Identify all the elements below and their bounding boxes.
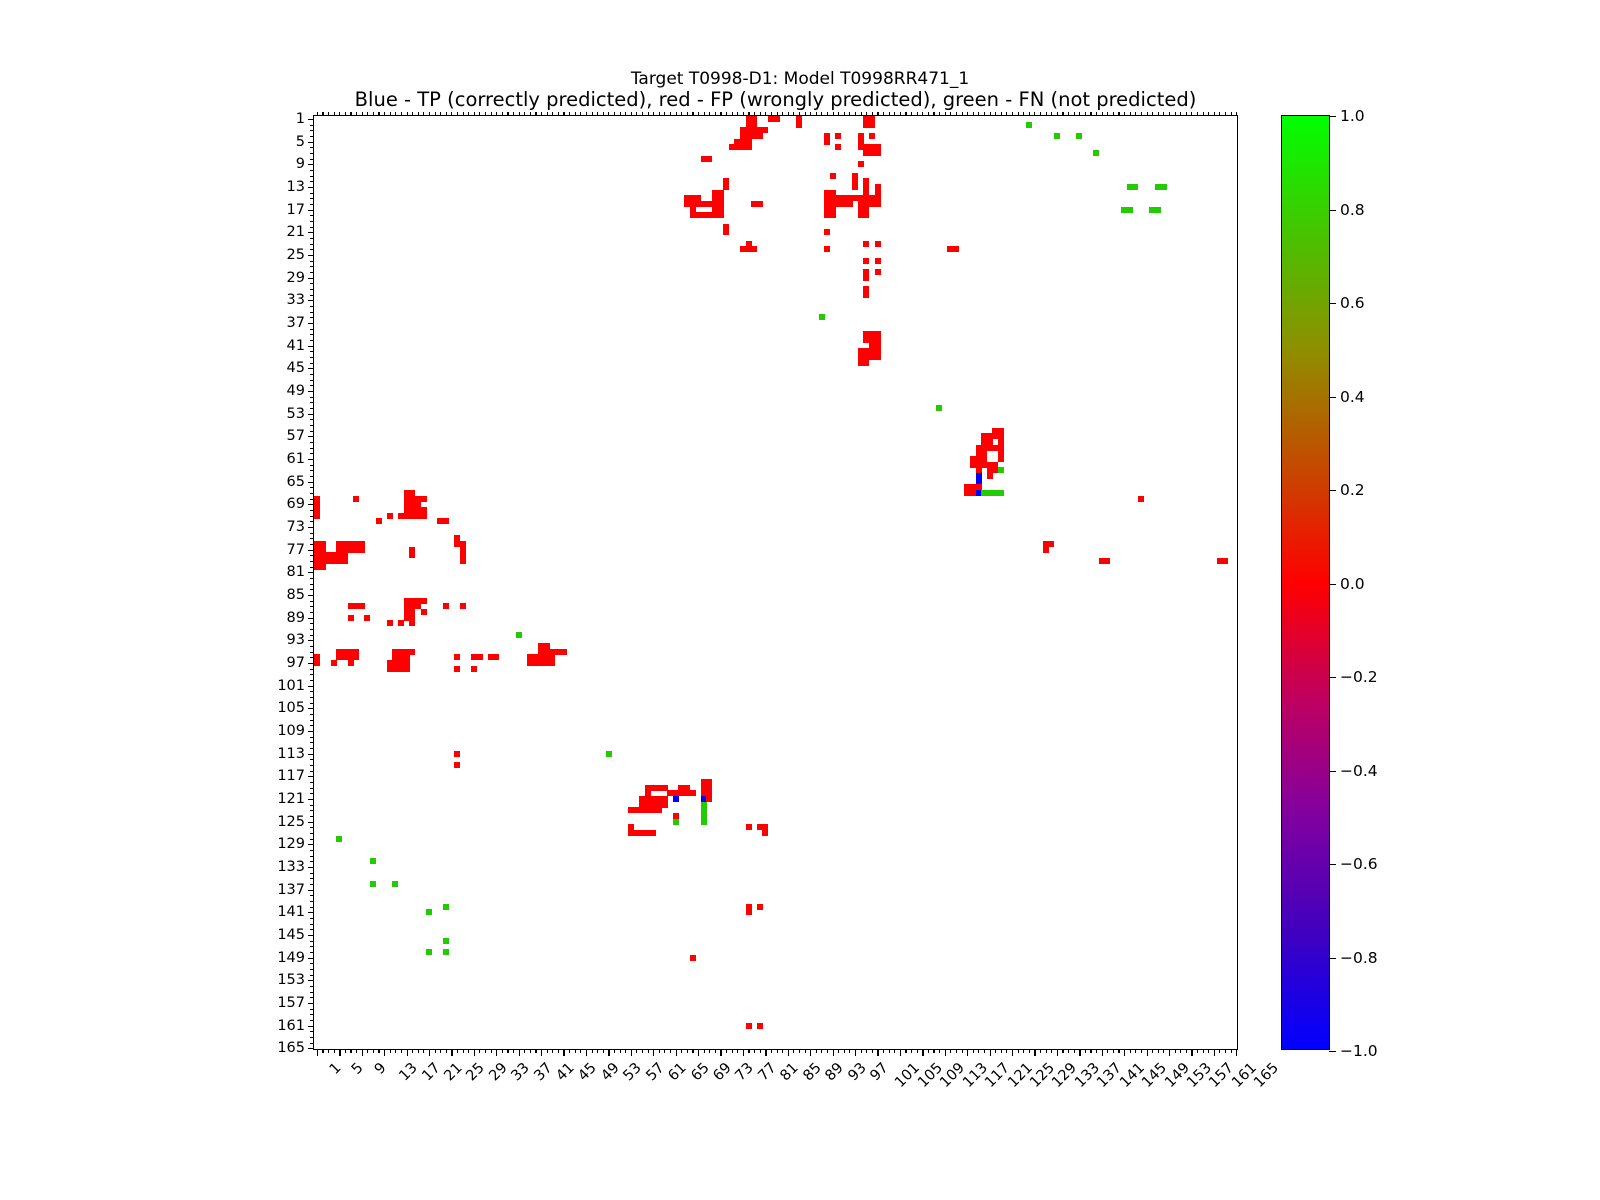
x-axis-tick-label: 41	[553, 1060, 577, 1084]
colorbar-tick	[1329, 771, 1336, 772]
colorbar-tick	[1329, 584, 1336, 585]
y-tick-minor	[310, 221, 314, 222]
x-tick-minor	[1208, 1049, 1209, 1053]
contact-cell	[976, 473, 982, 485]
x-tick-minor	[692, 1049, 693, 1053]
y-tick-minor	[310, 374, 314, 375]
contact-cell	[667, 790, 695, 796]
contact-cell	[981, 490, 1004, 496]
x-tick-minor	[440, 1049, 441, 1053]
x-tick-top	[418, 112, 419, 116]
y-tick-minor	[310, 125, 314, 126]
y-tick-minor	[310, 153, 314, 154]
x-tick-top	[463, 112, 464, 116]
contact-cell	[364, 615, 370, 621]
x-tick-top	[407, 112, 408, 116]
y-tick-major	[308, 958, 315, 959]
y-tick-major	[308, 119, 315, 120]
contact-cell	[1054, 133, 1060, 139]
y-tick-minor	[310, 470, 314, 471]
y-tick-minor	[310, 878, 314, 879]
contact-cell	[454, 666, 460, 672]
y-tick-minor	[310, 329, 314, 330]
contact-cell	[673, 819, 679, 825]
contact-cell	[336, 836, 342, 842]
y-tick-minor	[310, 159, 314, 160]
x-axis-tick-label: 13	[396, 1060, 420, 1084]
contact-cell	[348, 660, 354, 666]
x-tick-top	[905, 112, 906, 116]
y-axis-tick-label: 33	[287, 292, 305, 308]
y-tick-major	[308, 527, 315, 528]
x-tick-top	[328, 112, 329, 116]
colorbar-tick	[1329, 1051, 1336, 1052]
x-tick-top	[765, 112, 766, 116]
contact-cell	[768, 116, 780, 122]
x-tick-top	[990, 112, 991, 116]
y-tick-minor	[310, 510, 314, 511]
y-tick-minor	[310, 680, 314, 681]
contact-cell	[336, 541, 364, 553]
x-tick-top	[485, 112, 486, 116]
x-tick-minor	[457, 1049, 458, 1053]
x-axis-tick-label: 89	[823, 1060, 847, 1084]
y-tick-minor	[310, 215, 314, 216]
x-tick-top	[479, 112, 480, 116]
contact-cell	[998, 467, 1004, 473]
y-tick-minor	[310, 606, 314, 607]
y-tick-major	[308, 142, 315, 143]
contact-cell	[549, 649, 566, 655]
x-tick-top	[1012, 112, 1013, 116]
y-tick-major	[308, 822, 315, 823]
x-tick-top	[580, 112, 581, 116]
x-tick-minor	[799, 1049, 800, 1053]
contact-cell	[370, 881, 376, 887]
y-tick-major	[308, 504, 315, 505]
contact-cell	[392, 649, 409, 661]
x-tick-minor	[905, 1049, 906, 1053]
x-tick-top	[648, 112, 649, 116]
y-tick-minor	[310, 669, 314, 670]
y-axis-tick-label: 61	[287, 451, 305, 467]
x-tick-top	[524, 112, 525, 116]
x-tick-top	[782, 112, 783, 116]
x-tick-top	[339, 112, 340, 116]
x-tick-minor	[597, 1049, 598, 1053]
x-tick-minor	[861, 1049, 862, 1053]
y-tick-minor	[310, 578, 314, 579]
y-tick-minor	[310, 238, 314, 239]
contact-cell	[869, 133, 875, 139]
y-tick-minor	[310, 402, 314, 403]
x-tick-top	[1169, 112, 1170, 116]
y-tick-minor	[310, 941, 314, 942]
x-tick-top	[457, 112, 458, 116]
colorbar-tick	[1329, 397, 1336, 398]
x-tick-minor	[552, 1049, 553, 1053]
x-tick-top	[709, 112, 710, 116]
y-tick-minor	[310, 873, 314, 874]
x-tick-top	[810, 112, 811, 116]
contact-cell	[690, 955, 696, 961]
y-axis-tick-label: 85	[287, 587, 305, 603]
x-tick-major	[810, 1049, 811, 1056]
y-tick-minor	[310, 793, 314, 794]
contact-cell	[987, 445, 999, 451]
contact-cell	[628, 830, 634, 836]
x-tick-minor	[1180, 1049, 1181, 1053]
colorbar[interactable]: 1.00.80.60.40.20.0−0.2−0.4−0.6−0.8−1.0	[1281, 115, 1330, 1050]
y-tick-minor	[310, 493, 314, 494]
contact-cell	[314, 564, 326, 570]
x-tick-top	[1040, 112, 1041, 116]
contact-cell	[706, 796, 712, 802]
contact-cell	[835, 133, 841, 139]
y-tick-minor	[310, 561, 314, 562]
contact-cell	[314, 496, 320, 508]
y-axis-tick-label: 49	[287, 383, 305, 399]
colorbar-tick-label: 0.6	[1340, 294, 1365, 312]
contact-cell	[404, 609, 416, 621]
x-tick-top	[681, 112, 682, 116]
x-tick-minor	[345, 1049, 346, 1053]
x-tick-top	[496, 112, 497, 116]
contact-cell	[746, 116, 758, 128]
y-tick-minor	[310, 601, 314, 602]
x-tick-minor	[378, 1049, 379, 1053]
contact-cell	[415, 598, 427, 604]
x-tick-minor	[687, 1049, 688, 1053]
x-axis-tick-label: 85	[800, 1060, 824, 1084]
contact-cell	[875, 269, 881, 275]
y-tick-major	[308, 278, 315, 279]
x-axis-tick-label: 61	[666, 1060, 690, 1084]
x-axis-tick-label: 93	[845, 1060, 869, 1084]
x-tick-major	[474, 1049, 475, 1056]
y-tick-minor	[310, 975, 314, 976]
contact-cell	[1043, 547, 1049, 553]
x-tick-top	[659, 112, 660, 116]
x-tick-top	[625, 112, 626, 116]
contact-cell	[858, 360, 870, 366]
contact-cell	[443, 603, 449, 609]
contact-cell	[863, 241, 869, 247]
x-tick-minor	[1186, 1049, 1187, 1053]
y-tick-minor	[310, 312, 314, 313]
x-tick-minor	[748, 1049, 749, 1053]
x-tick-minor	[446, 1049, 447, 1053]
y-axis-tick-label: 9	[296, 156, 305, 172]
x-tick-top	[412, 112, 413, 116]
y-axis-tick-label: 81	[287, 564, 305, 580]
x-tick-top	[636, 112, 637, 116]
x-tick-top	[692, 112, 693, 116]
contact-cell	[723, 178, 729, 190]
x-tick-top	[1102, 112, 1103, 116]
y-tick-minor	[310, 533, 314, 534]
x-tick-top	[575, 112, 576, 116]
x-tick-minor	[412, 1049, 413, 1053]
x-axis-tick-label: 97	[867, 1060, 891, 1084]
y-tick-major	[308, 232, 315, 233]
x-tick-minor	[664, 1049, 665, 1053]
x-tick-minor	[1130, 1049, 1131, 1053]
y-tick-major	[308, 164, 315, 165]
x-tick-top	[911, 112, 912, 116]
x-tick-top	[922, 112, 923, 116]
x-tick-major	[407, 1049, 408, 1056]
y-tick-major	[308, 754, 315, 755]
y-axis-tick-label: 153	[277, 972, 305, 988]
colorbar-tick-label: −0.6	[1340, 855, 1378, 873]
contact-cell	[314, 654, 320, 666]
y-axis-tick-label: 45	[287, 360, 305, 376]
x-tick-top	[771, 112, 772, 116]
contact-cell	[863, 258, 869, 264]
y-tick-minor	[310, 810, 314, 811]
contact-cell	[701, 802, 707, 825]
y-tick-minor	[310, 895, 314, 896]
x-tick-minor	[1219, 1049, 1220, 1053]
y-axis-tick-label: 149	[277, 950, 305, 966]
y-axis-tick-label: 37	[287, 315, 305, 331]
y-tick-minor	[310, 623, 314, 624]
y-tick-minor	[310, 805, 314, 806]
x-tick-minor	[390, 1049, 391, 1053]
y-axis-tick-label: 161	[277, 1018, 305, 1034]
y-tick-minor	[310, 181, 314, 182]
x-tick-top	[552, 112, 553, 116]
x-tick-top	[1152, 112, 1153, 116]
x-tick-minor	[659, 1049, 660, 1053]
y-tick-minor	[310, 697, 314, 698]
y-tick-minor	[310, 691, 314, 692]
x-tick-minor	[1175, 1049, 1176, 1053]
x-tick-top	[933, 112, 934, 116]
y-tick-minor	[310, 317, 314, 318]
x-tick-minor	[1023, 1049, 1024, 1053]
x-tick-top	[973, 112, 974, 116]
x-tick-top	[1113, 112, 1114, 116]
x-tick-minor	[709, 1049, 710, 1053]
x-tick-minor	[973, 1049, 974, 1053]
x-axis-tick-label: 33	[509, 1060, 533, 1084]
x-tick-top	[373, 112, 374, 116]
x-tick-major	[922, 1049, 923, 1056]
x-tick-top	[1074, 112, 1075, 116]
x-axis-tick-label: 25	[464, 1060, 488, 1084]
x-tick-minor	[984, 1049, 985, 1053]
y-tick-minor	[310, 130, 314, 131]
y-tick-minor	[310, 465, 314, 466]
x-tick-top	[563, 112, 564, 116]
x-tick-top	[1023, 112, 1024, 116]
x-tick-major	[384, 1049, 385, 1056]
x-tick-top	[1068, 112, 1069, 116]
y-tick-major	[308, 550, 315, 551]
x-tick-top	[676, 112, 677, 116]
y-tick-minor	[310, 1009, 314, 1010]
y-axis-tick-label: 165	[277, 1040, 305, 1056]
x-tick-minor	[463, 1049, 464, 1053]
x-tick-top	[1051, 112, 1052, 116]
x-tick-top	[631, 112, 632, 116]
x-tick-minor	[715, 1049, 716, 1053]
x-tick-major	[362, 1049, 363, 1056]
contact-cell	[387, 513, 393, 519]
y-tick-minor	[310, 385, 314, 386]
x-tick-top	[883, 112, 884, 116]
x-tick-top	[1057, 112, 1058, 116]
y-tick-major	[308, 618, 315, 619]
y-tick-minor	[310, 147, 314, 148]
x-tick-minor	[1158, 1049, 1159, 1053]
x-tick-minor	[1006, 1049, 1007, 1053]
x-tick-top	[541, 112, 542, 116]
y-tick-major	[308, 595, 315, 596]
x-tick-minor	[356, 1049, 357, 1053]
x-tick-top	[423, 112, 424, 116]
x-tick-top	[401, 112, 402, 116]
x-tick-top	[799, 112, 800, 116]
x-tick-minor	[1001, 1049, 1002, 1053]
x-tick-major	[788, 1049, 789, 1056]
x-tick-minor	[648, 1049, 649, 1053]
y-tick-minor	[310, 737, 314, 738]
colorbar-tick-label: −1.0	[1340, 1042, 1378, 1060]
x-tick-top	[1006, 112, 1007, 116]
contact-cell	[835, 195, 852, 207]
figure-canvas: Target T0998-D1: Model T0998RR471_1 Corr…	[0, 0, 1600, 1200]
x-tick-top	[592, 112, 593, 116]
y-tick-major	[308, 912, 315, 913]
x-tick-top	[816, 112, 817, 116]
y-tick-major	[308, 187, 315, 188]
x-tick-top	[491, 112, 492, 116]
y-tick-minor	[310, 1014, 314, 1015]
y-tick-minor	[310, 952, 314, 953]
contact-cell	[1099, 558, 1111, 564]
contact-cell	[701, 156, 713, 162]
contact-cell	[936, 405, 942, 411]
y-tick-minor	[310, 1031, 314, 1032]
y-tick-major	[308, 776, 315, 777]
y-tick-major	[308, 459, 315, 460]
x-tick-minor	[401, 1049, 402, 1053]
x-tick-top	[597, 112, 598, 116]
x-tick-minor	[435, 1049, 436, 1053]
x-tick-top	[535, 112, 536, 116]
y-tick-major	[308, 890, 315, 891]
x-tick-minor	[423, 1049, 424, 1053]
contact-cell	[488, 654, 500, 660]
x-tick-top	[704, 112, 705, 116]
x-tick-minor	[962, 1049, 963, 1053]
contact-cell	[992, 428, 1004, 440]
y-tick-minor	[310, 997, 314, 998]
contact-cell	[421, 609, 427, 615]
contact-cell	[516, 632, 522, 638]
x-tick-minor	[950, 1049, 951, 1053]
x-axis-tick-label: 5	[349, 1060, 367, 1078]
contact-cell	[701, 779, 713, 796]
x-tick-top	[435, 112, 436, 116]
contact-cell	[1217, 558, 1229, 564]
y-tick-minor	[310, 567, 314, 568]
x-tick-major	[1169, 1049, 1170, 1056]
x-tick-top	[1124, 112, 1125, 116]
x-tick-minor	[844, 1049, 845, 1053]
y-tick-minor	[310, 272, 314, 273]
y-tick-minor	[310, 765, 314, 766]
y-axis-tick-label: 89	[287, 610, 305, 626]
x-tick-major	[1012, 1049, 1013, 1056]
x-axis-tick-label: 37	[531, 1060, 555, 1084]
y-tick-minor	[310, 833, 314, 834]
y-axis-tick-label: 145	[277, 927, 305, 943]
y-tick-minor	[310, 408, 314, 409]
y-tick-minor	[310, 657, 314, 658]
contact-cell	[796, 116, 802, 128]
contact-cell	[1076, 133, 1082, 139]
y-tick-minor	[310, 850, 314, 851]
contact-cell	[863, 286, 869, 298]
x-tick-top	[1219, 112, 1220, 116]
contact-cell	[404, 501, 421, 513]
x-tick-top	[917, 112, 918, 116]
x-tick-top	[451, 112, 452, 116]
x-tick-top	[395, 112, 396, 116]
x-axis-tick-label: 1	[327, 1060, 345, 1078]
contact-map-plot-area[interactable]: 1591317212529333741454953576165697377818…	[313, 115, 1238, 1050]
y-tick-minor	[310, 929, 314, 930]
contact-cell	[404, 513, 427, 519]
x-tick-major	[945, 1049, 946, 1056]
y-tick-minor	[310, 703, 314, 704]
y-tick-major	[308, 731, 315, 732]
x-tick-top	[855, 112, 856, 116]
contact-cell	[746, 824, 752, 830]
x-tick-major	[720, 1049, 721, 1056]
x-tick-top	[1029, 112, 1030, 116]
y-axis-tick-label: 41	[287, 338, 305, 354]
x-tick-top	[1203, 112, 1204, 116]
x-tick-minor	[524, 1049, 525, 1053]
y-tick-minor	[310, 861, 314, 862]
x-tick-minor	[1051, 1049, 1052, 1053]
y-tick-minor	[310, 295, 314, 296]
x-axis-tick-label: 29	[486, 1060, 510, 1084]
y-tick-major	[308, 436, 315, 437]
contact-cell	[740, 246, 757, 252]
y-tick-minor	[310, 476, 314, 477]
x-tick-top	[1158, 112, 1159, 116]
x-tick-top	[350, 112, 351, 116]
contact-cell	[1127, 184, 1139, 190]
x-tick-minor	[872, 1049, 873, 1053]
x-tick-top	[1197, 112, 1198, 116]
x-axis-tick-label: 165	[1251, 1060, 1282, 1091]
x-tick-minor	[827, 1049, 828, 1053]
y-tick-minor	[310, 453, 314, 454]
x-tick-minor	[322, 1049, 323, 1053]
x-tick-minor	[760, 1049, 761, 1053]
x-tick-top	[1225, 112, 1226, 116]
y-axis-tick-label: 109	[277, 723, 305, 739]
contact-cell	[1026, 122, 1032, 128]
contact-cell	[987, 473, 993, 479]
